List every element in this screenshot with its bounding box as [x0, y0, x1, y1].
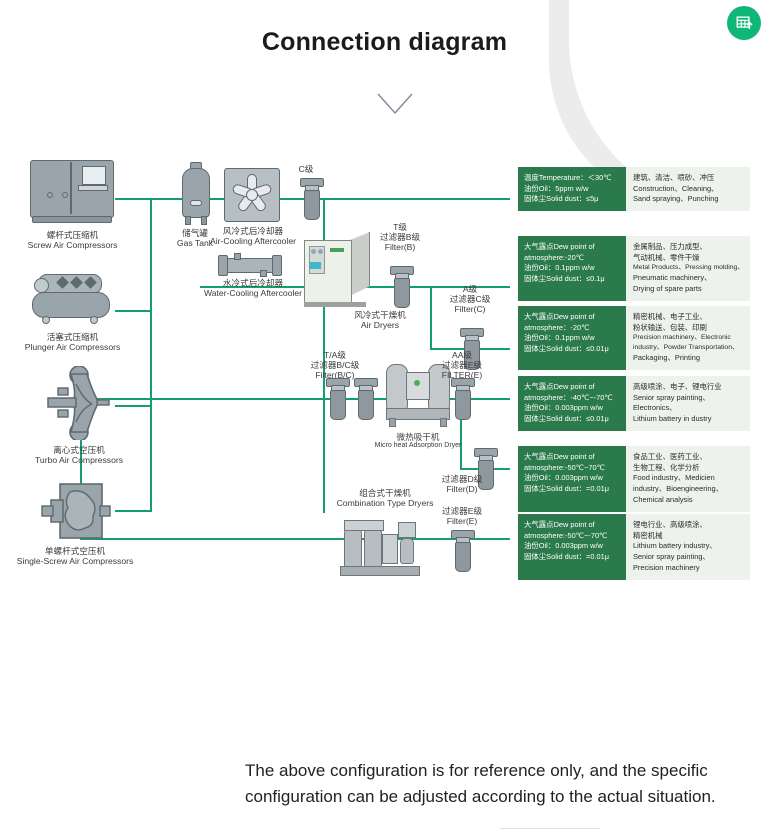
page-title: Connection diagram [0, 28, 769, 57]
gas-tank-foot [201, 216, 207, 225]
dryer-base [304, 302, 366, 307]
label-filter-b: T级 过滤器B级 Filter(B) [370, 222, 430, 252]
combination-separator [400, 538, 414, 564]
gas-tank-gauge [190, 200, 202, 206]
label-air-cooling-aftercooler: 风冷式后冷却器 Air-Cooling Aftercooler [208, 226, 298, 246]
spec-row-4: 大气露点Dew point of atmosphere：-40℃~-70℃ 油份… [518, 376, 750, 431]
combination-type-dryer[interactable] [340, 518, 418, 576]
adsorption-tower-left [386, 364, 408, 410]
dryer-side-panel [350, 232, 370, 296]
combination-tower-mid [364, 528, 382, 568]
turbo-compressor-glyph [42, 366, 116, 440]
filter-bowl [304, 190, 320, 220]
filter-bowl [394, 278, 410, 308]
wire-singlescrew-to-bus [115, 510, 152, 512]
label-turbo-air-compressor: 离心式空压机 Turbo Air Compressors [20, 445, 138, 465]
aftercooler-endcap [218, 255, 228, 276]
chevron-down-icon [376, 92, 414, 116]
label-filter-e: AA级 过滤器E级 FILTER(E) [432, 350, 492, 380]
spec-application-5: 食品工业、医药工业、 生物工程、化学分析 Food industry、Medic… [626, 446, 750, 512]
filter-bowl [455, 390, 471, 420]
filter-b-dual-1[interactable] [326, 378, 348, 420]
spec-quality-4: 大气露点Dew point of atmosphere：-40℃~-70℃ 油份… [518, 376, 626, 431]
plunger-leg [42, 316, 50, 324]
label-filter-bc: T/A级 过滤器B/C级 Filter(B/C) [300, 350, 370, 380]
label-screw-air-compressor: 螺杆式压缩机 Screw Air Compressors [15, 230, 130, 250]
adsorption-leg [440, 418, 447, 427]
spec-quality-3: 大气露点Dew point of atmosphere：-20℃ 油份Oil：0… [518, 306, 626, 370]
filter-bowl [358, 390, 374, 420]
plunger-leg [90, 316, 98, 324]
combination-tower-left [344, 528, 362, 568]
label-single-screw-air-compressor: 单螺杆式空压机 Single-Screw Air Compressors [5, 546, 145, 566]
gas-tank[interactable] [176, 162, 214, 224]
gas-tank-foot [185, 216, 191, 225]
filter-b[interactable] [390, 266, 412, 308]
dryer-button[interactable] [318, 249, 323, 254]
filter-bowl [330, 390, 346, 420]
filter-e[interactable] [451, 378, 473, 420]
aftercooler-shell [224, 258, 276, 273]
footer-note: The above configuration is for reference… [245, 758, 755, 809]
wire-screw-to-bus [115, 198, 152, 200]
combination-manifold [344, 520, 384, 531]
spec-quality-1: 温度Temperature：＜30℃ 油份Oil：5ppm w/w 固体尘Sol… [518, 167, 626, 211]
combination-cooler [398, 522, 416, 538]
screw-compressor-knob [62, 192, 68, 198]
dryer-button[interactable] [311, 249, 316, 254]
spec-row-3: 大气露点Dew point of atmosphere：-20℃ 油份Oil：0… [518, 306, 750, 370]
spec-row-5: 大气露点Dew point of atmosphere:-50℃~70℃ 油份O… [518, 446, 750, 512]
spec-row-2: 大气露点Dew point of atmosphere:-20℃ 油份Oil：0… [518, 236, 750, 301]
spec-row-1: 温度Temperature：＜30℃ 油份Oil：5ppm w/w 固体尘Sol… [518, 167, 750, 211]
combination-base [340, 566, 420, 576]
refrigerated-air-dryer[interactable] [304, 232, 370, 310]
label-micro-heat-dryer: 微热吸干机 Micro heat Adsorption Dryer [358, 432, 478, 450]
label-air-dryer: 风冷式干燥机 Air Dryers [330, 310, 430, 330]
filter-bowl [455, 542, 471, 572]
footer-divider [500, 828, 600, 829]
spec-quality-2: 大气露点Dew point of atmosphere:-20℃ 油份Oil：0… [518, 236, 626, 301]
dryer-logo [330, 248, 344, 252]
label-filter-e2: 过滤器E级 Filter(E) [432, 506, 492, 526]
screw-compressor-base [32, 216, 112, 223]
adsorption-leg [389, 418, 396, 427]
label-filter-c-grade: C级 [286, 164, 326, 174]
spec-row-6: 大气露点Dew point of atmosphere:-50℃~-70℃ 油份… [518, 514, 750, 580]
single-screw-air-compressor[interactable] [40, 480, 118, 542]
label-plunger-air-compressor: 活塞式压缩机 Plunger Air Compressors [10, 332, 135, 352]
screw-compressor-vent [78, 185, 108, 191]
air-cooling-aftercooler[interactable] [224, 168, 280, 222]
spec-application-2: 金属制品、压力成型、 气动机械、零件干燥 Metal Products、Pres… [626, 236, 750, 301]
wire-to-filter-c [430, 286, 432, 348]
screw-compressor-window [82, 166, 106, 185]
turbo-air-compressor[interactable] [42, 366, 116, 440]
single-screw-compressor-glyph [40, 480, 118, 542]
spec-application-3: 精密机械、电子工业、 粉状输送、包装、印刷 Precision machiner… [626, 306, 750, 370]
wire-turbo-to-bus [115, 405, 152, 407]
label-filter-d: 过滤器D级 Filter(D) [432, 474, 492, 494]
dryer-display [310, 262, 321, 269]
plunger-flywheel [34, 278, 49, 293]
screw-compressor-knob [47, 192, 53, 198]
aftercooler-nozzle [234, 253, 241, 260]
spec-application-6: 锂电行业、高级喷涂、 精密机械 Lithium battery industry… [626, 514, 750, 580]
label-combination-dryer: 组合式干燥机 Combination Type Dryers [330, 488, 440, 508]
adsorption-valve-block [406, 372, 430, 400]
fan-hub [246, 189, 258, 201]
wire-combination-row [80, 538, 510, 540]
wire-plunger-to-bus [115, 310, 152, 312]
spec-quality-6: 大气露点Dew point of atmosphere:-50℃~-70℃ 油份… [518, 514, 626, 580]
filter-c-dual-2[interactable] [354, 378, 376, 420]
plunger-tank [32, 292, 110, 318]
spec-quality-5: 大气露点Dew point of atmosphere:-50℃~70℃ 油份O… [518, 446, 626, 512]
filter-e2[interactable] [451, 530, 473, 572]
spec-application-4: 高级喷涂、电子、锂电行业 Senior spray painting、 Elec… [626, 376, 750, 431]
wire-compressor-bus [150, 198, 152, 512]
aftercooler-nozzle [260, 270, 267, 277]
filter-c[interactable] [300, 178, 322, 220]
combination-control-box [382, 534, 398, 564]
plunger-air-compressor[interactable] [28, 272, 114, 324]
adsorption-indicator [414, 380, 420, 386]
gas-tank-body [182, 168, 210, 218]
spec-application-1: 建筑、清洁、喷砂、冲压 Construction、Cleaning、 Sand … [626, 167, 750, 211]
screw-air-compressor[interactable] [30, 160, 114, 222]
water-cooling-aftercooler[interactable] [216, 254, 288, 276]
label-filter-c2: A级 过滤器C级 Filter(C) [440, 284, 500, 314]
aftercooler-endcap [272, 255, 282, 276]
label-water-cooling-aftercooler: 水冷式后冷却器 Water-Cooling Aftercooler [194, 278, 312, 298]
screw-compressor-divider [70, 162, 72, 214]
